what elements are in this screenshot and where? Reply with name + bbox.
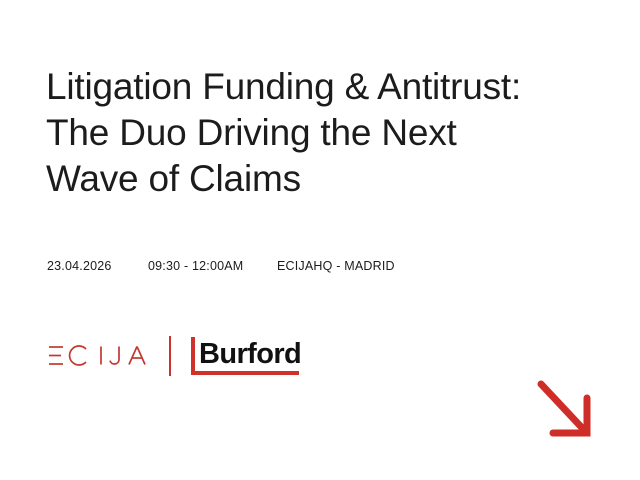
event-date: 23.04.2026: [47, 259, 148, 273]
logo-divider: [169, 336, 171, 376]
event-venue: ECIJAHQ - MADRID: [277, 259, 395, 273]
burford-logo: Burford: [191, 334, 301, 378]
arrow-down-right-icon: [535, 376, 597, 444]
burford-wordmark: Burford: [191, 337, 301, 375]
ecija-logo: [47, 334, 147, 378]
page-title: Litigation Funding & Antitrust: The Duo …: [46, 64, 566, 202]
ecija-wordmark-icon: [47, 342, 147, 370]
event-announcement-slide: Litigation Funding & Antitrust: The Duo …: [0, 0, 640, 480]
event-meta: 23.04.2026 09:30 - 12:00AM ECIJAHQ - MAD…: [47, 259, 395, 273]
logo-lockup: Burford: [47, 334, 301, 378]
event-time: 09:30 - 12:00AM: [148, 259, 277, 273]
